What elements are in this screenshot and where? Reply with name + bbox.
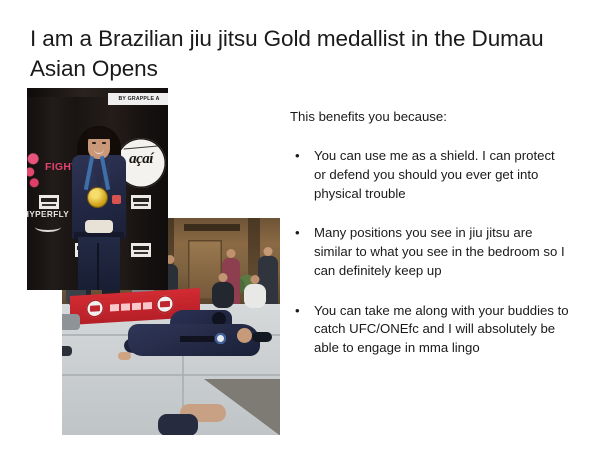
gi-pants: [78, 237, 120, 290]
spectator-seated: [212, 282, 234, 308]
sponsor-label-grapple: BY GRAPPLE A: [108, 93, 168, 105]
list-item: • You can take me along with your buddie…: [290, 302, 570, 358]
bullet-marker: •: [295, 224, 300, 243]
list-item-text: Many positions you see in jiu jitsu are …: [314, 225, 565, 277]
sponsor-plaque: [131, 243, 151, 257]
sponsor-text-hyperfly: HYPERFLY: [27, 210, 69, 219]
intro-line: This benefits you because:: [290, 108, 570, 125]
list-item: • Many positions you see in jiu jitsu ar…: [290, 224, 570, 280]
grappler-head: [237, 328, 252, 343]
venue-sign: [184, 224, 240, 231]
spectator-head: [251, 275, 260, 284]
sponsor-logo-pink: [27, 150, 43, 190]
athlete-hair-fringe: [86, 128, 112, 139]
sponsor-plaque: [39, 195, 59, 209]
grappler-foot: [118, 352, 131, 360]
banner-logo-circle: [156, 295, 174, 314]
body-text-column: This benefits you because: • You can use…: [290, 108, 570, 358]
athlete-hands: [85, 220, 113, 233]
podium-medal-photo: BY GRAPPLE A açaí FIGHT HYPERFLY: [27, 88, 168, 290]
benefits-list: • You can use me as a shield. I can prot…: [290, 147, 570, 358]
foreground-object: [62, 346, 72, 356]
page-title: I am a Brazilian jiu jitsu Gold medallis…: [30, 24, 560, 84]
gi-patch: [215, 333, 226, 344]
foreground-object: [158, 414, 198, 435]
bullet-marker: •: [295, 302, 300, 321]
gold-medal: [88, 188, 107, 207]
list-item-text: You can use me as a shield. I can protec…: [314, 148, 555, 200]
athlete-figure: [65, 122, 133, 290]
banner-logo-circle: [86, 299, 104, 318]
eye-right: [102, 142, 106, 144]
foreground-object: [62, 314, 80, 330]
spectator-head: [264, 247, 273, 256]
spectator-seated: [244, 284, 266, 308]
list-item: • You can use me as a shield. I can prot…: [290, 147, 570, 203]
slide: I am a Brazilian jiu jitsu Gold medallis…: [0, 0, 600, 457]
spectator-head: [227, 249, 236, 258]
grappler-bottom: [128, 324, 260, 356]
grappler-belt: [180, 336, 214, 342]
bullet-marker: •: [295, 147, 300, 166]
grappler-hair: [252, 332, 272, 342]
list-item-text: You can take me along with your buddies …: [314, 303, 569, 355]
spectator-head: [219, 273, 228, 282]
mat-seam: [62, 374, 280, 376]
gi-shoulder-patch: [112, 195, 121, 204]
sponsor-plaque: [131, 195, 151, 209]
mouth-smile: [94, 149, 104, 154]
banner-text: [110, 302, 152, 312]
eye-left: [92, 142, 96, 144]
hyperfly-wing-mark: [35, 222, 61, 232]
